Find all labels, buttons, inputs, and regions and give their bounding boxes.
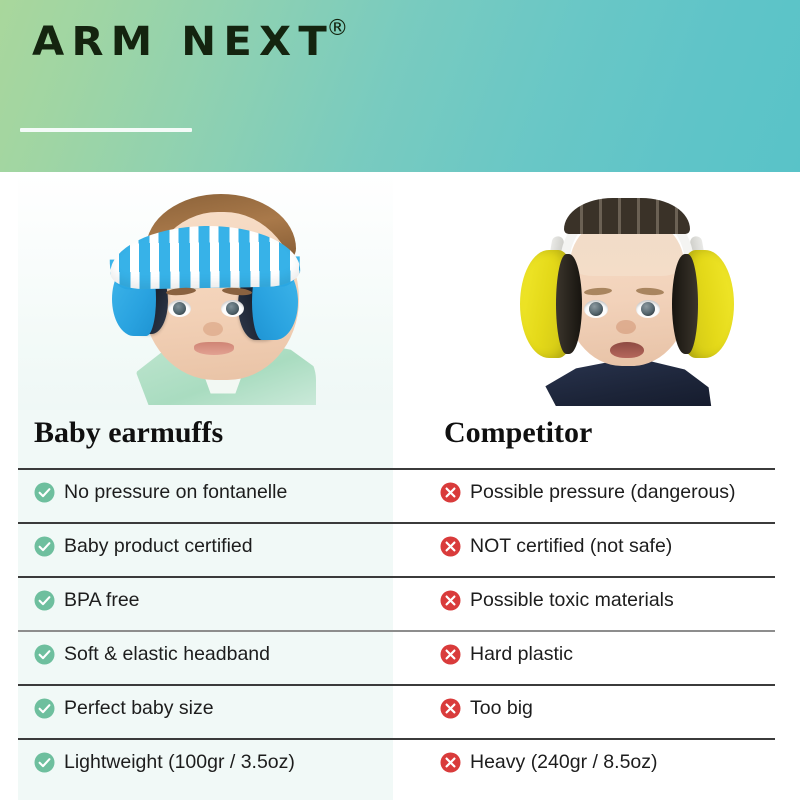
yellow-earmuff-pad-left: [556, 254, 582, 354]
feature-cell-baby: BPA free: [34, 589, 140, 612]
row-divider: [18, 468, 775, 470]
competitor-baby-mouth: [610, 342, 644, 358]
baby-mouth: [194, 342, 234, 355]
check-circle-icon: [34, 536, 55, 557]
table-row: Lightweight (100gr / 3.5oz) Heavy (240gr…: [0, 738, 800, 792]
feature-label: NOT certified (not safe): [470, 535, 672, 558]
feature-label: Perfect baby size: [64, 697, 214, 720]
feature-cell-competitor: Too big: [440, 697, 533, 720]
baby-iris-right: [226, 302, 239, 315]
brand-header: ARM NEXT ®: [0, 0, 800, 172]
competitor-baby-iris-left: [589, 302, 603, 316]
check-circle-icon: [34, 644, 55, 665]
table-row: No pressure on fontanelle Possible press…: [0, 468, 800, 522]
feature-label: Lightweight (100gr / 3.5oz): [64, 751, 295, 774]
check-circle-icon: [34, 698, 55, 719]
column-header-competitor: Competitor: [444, 416, 592, 450]
feature-label: Heavy (240gr / 8.5oz): [470, 751, 658, 774]
x-circle-icon: [440, 698, 461, 719]
competitor-baby-iris-right: [641, 302, 655, 316]
feature-label: Possible pressure (dangerous): [470, 481, 736, 504]
row-divider: [18, 684, 775, 686]
check-circle-icon: [34, 752, 55, 773]
competitor-product-image: [512, 188, 738, 406]
brand-name: ARM NEXT: [32, 22, 334, 62]
x-circle-icon: [440, 752, 461, 773]
competitor-baby-nose: [616, 320, 636, 334]
feature-cell-competitor: NOT certified (not safe): [440, 535, 672, 558]
product-image-row: [0, 172, 800, 410]
table-row: Perfect baby size Too big: [0, 684, 800, 738]
baby-nose: [203, 322, 223, 336]
table-row: Baby product certified NOT certified (no…: [0, 522, 800, 576]
feature-cell-competitor: Possible toxic materials: [440, 589, 674, 612]
column-header-baby-earmuffs: Baby earmuffs: [34, 416, 223, 450]
check-circle-icon: [34, 590, 55, 611]
baby-iris-left: [173, 302, 186, 315]
feature-cell-competitor: Hard plastic: [440, 643, 573, 666]
comparison-infographic: ARM NEXT ®: [0, 0, 800, 800]
feature-cell-baby: Perfect baby size: [34, 697, 214, 720]
table-row: Soft & elastic headband Hard plastic: [0, 630, 800, 684]
feature-cell-baby: Baby product certified: [34, 535, 253, 558]
feature-label: Possible toxic materials: [470, 589, 674, 612]
row-divider: [18, 576, 775, 578]
row-divider: [18, 738, 775, 740]
x-circle-icon: [440, 644, 461, 665]
row-divider: [18, 630, 775, 632]
feature-label: Too big: [470, 697, 533, 720]
feature-cell-baby: Soft & elastic headband: [34, 643, 270, 666]
comparison-table: Baby earmuffs Competitor No pressure on …: [0, 410, 800, 800]
brand-logo: ARM NEXT ®: [32, 22, 348, 62]
baby-earmuffs-product-image: [88, 190, 364, 405]
feature-cell-baby: Lightweight (100gr / 3.5oz): [34, 751, 295, 774]
feature-cell-baby: No pressure on fontanelle: [34, 481, 287, 504]
table-row: BPA free Possible toxic materials: [0, 576, 800, 630]
header-underline-bar: [20, 128, 192, 132]
earmuff-headband-padding: [564, 198, 690, 234]
feature-cell-competitor: Possible pressure (dangerous): [440, 481, 736, 504]
feature-cell-competitor: Heavy (240gr / 8.5oz): [440, 751, 658, 774]
x-circle-icon: [440, 482, 461, 503]
feature-label: Hard plastic: [470, 643, 573, 666]
yellow-earmuff-pad-right: [672, 254, 698, 354]
x-circle-icon: [440, 536, 461, 557]
x-circle-icon: [440, 590, 461, 611]
comparison-table-header: Baby earmuffs Competitor: [0, 410, 800, 468]
feature-label: Baby product certified: [64, 535, 253, 558]
feature-label: No pressure on fontanelle: [64, 481, 287, 504]
check-circle-icon: [34, 482, 55, 503]
feature-label: BPA free: [64, 589, 140, 612]
feature-label: Soft & elastic headband: [64, 643, 270, 666]
row-divider: [18, 522, 775, 524]
comparison-table-rows: No pressure on fontanelle Possible press…: [0, 468, 800, 792]
